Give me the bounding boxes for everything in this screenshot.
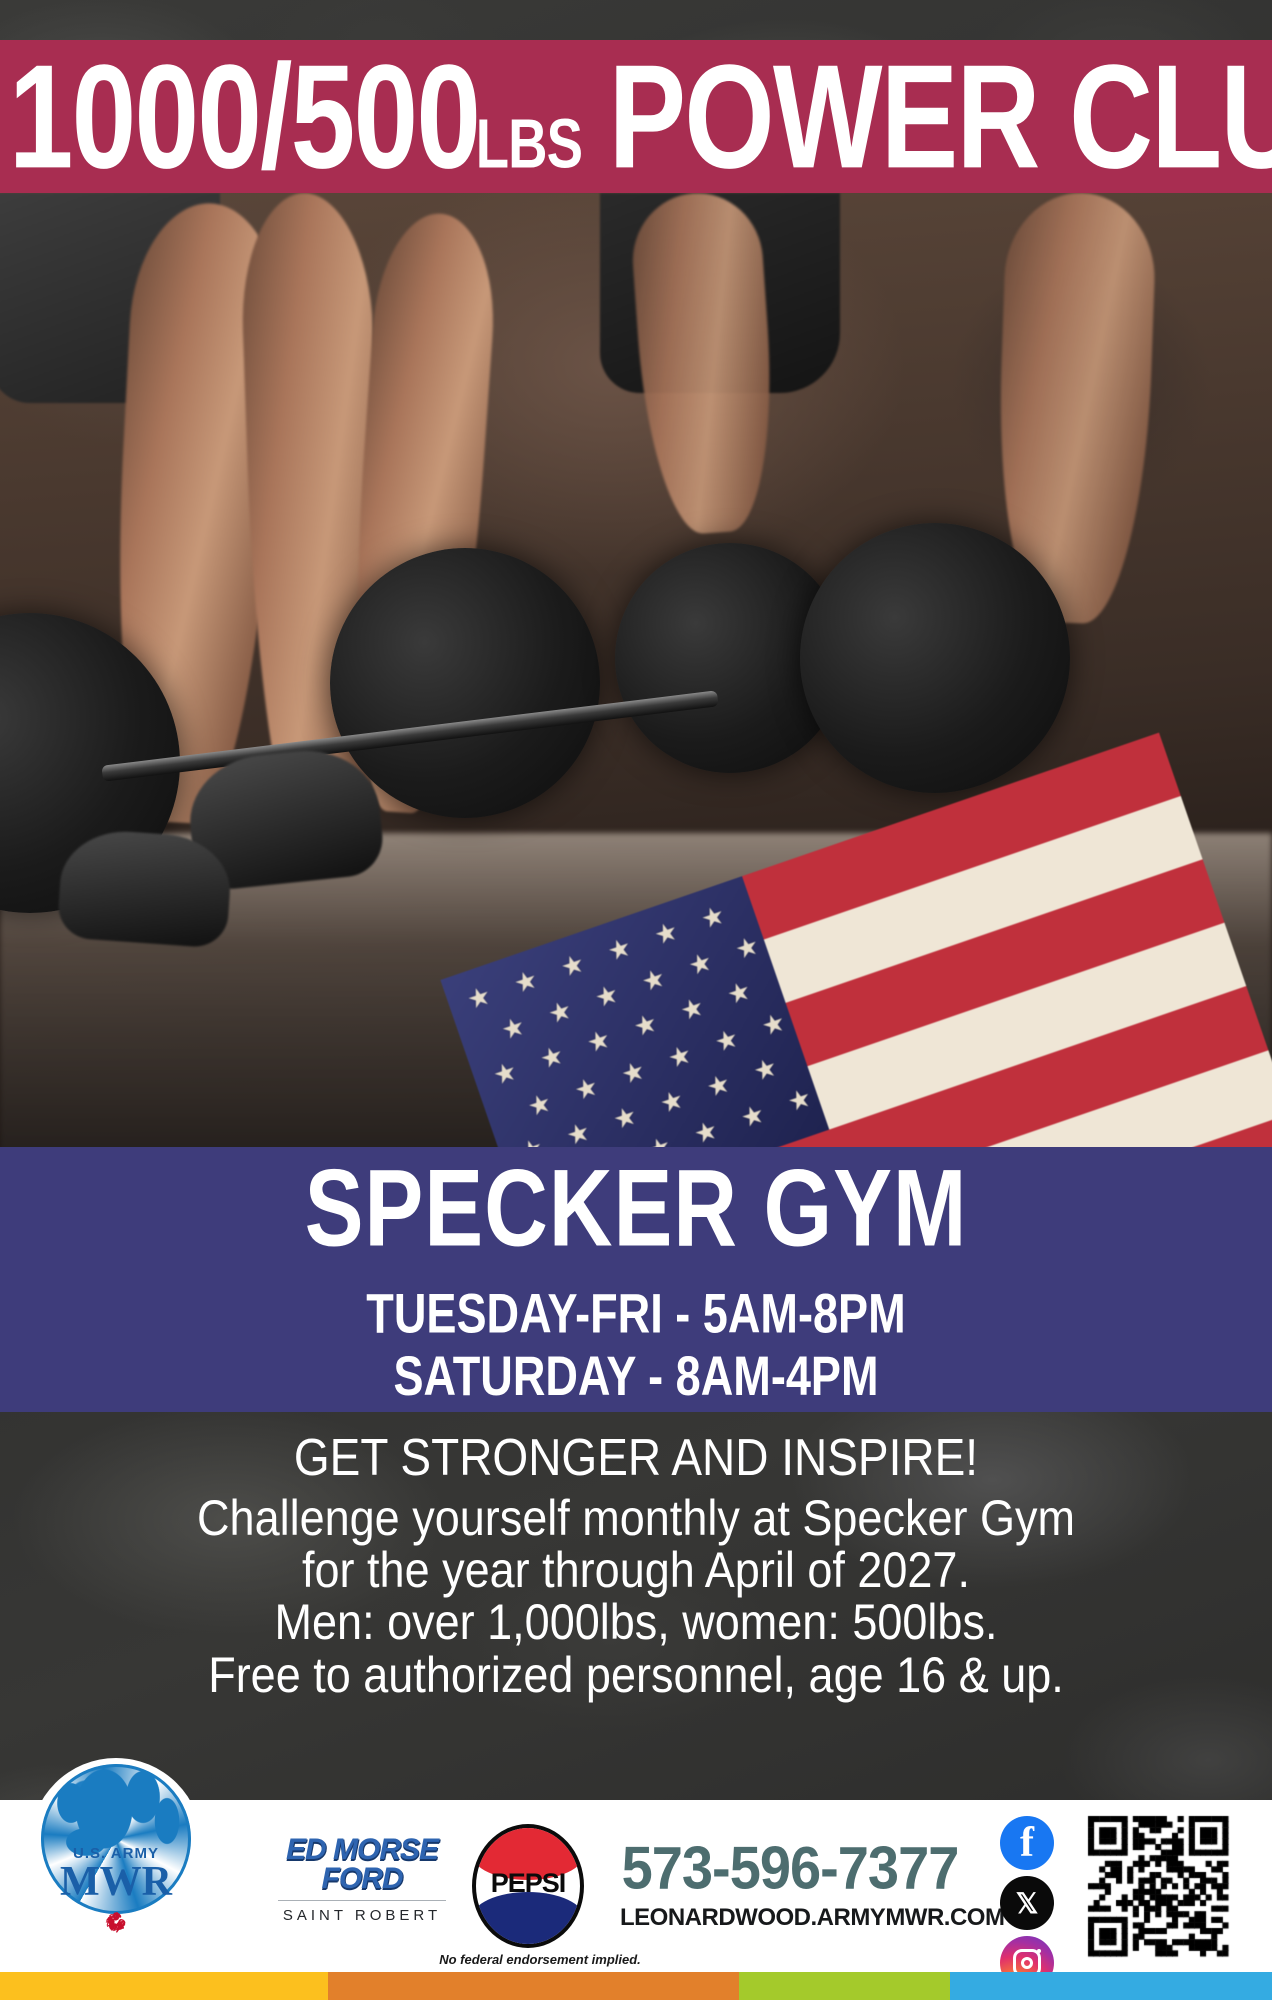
- gym-hours-saturday: SATURDAY - 8AM-4PM: [51, 1346, 1221, 1409]
- flag-star: ★: [557, 949, 588, 981]
- ed-morse-city: SAINT ROBERT: [272, 1907, 452, 1924]
- flag-star: ★: [490, 1057, 521, 1089]
- gym-info-band: SPECKER GYM TUESDAY-FRI - 5AM-8PM SATURD…: [0, 1147, 1272, 1412]
- flag-star: ★: [644, 1132, 675, 1147]
- phone-number[interactable]: 573-596-7377: [620, 1838, 960, 1898]
- colorbar-segment-lime: [739, 1972, 950, 2000]
- barbell-plate: [330, 548, 600, 818]
- flag-star: ★: [711, 1024, 742, 1056]
- flag-star: ★: [498, 1012, 529, 1044]
- flag-star: ★: [758, 1008, 789, 1040]
- federal-disclaimer: No federal endorsement implied.: [260, 1952, 820, 1967]
- instagram-lens: [1021, 1957, 1033, 1969]
- us-army-mwr-logo: U.S. ARMY MWR SOLDIERS · FAMILIES · RETI…: [30, 1758, 202, 1930]
- title-band: 1000/500LBSPOWER CLUB: [0, 40, 1272, 193]
- flag-star: ★: [618, 1056, 649, 1088]
- title-club-name: POWER CLUB: [609, 48, 1272, 184]
- mwr-tagline-ring: SOLDIERS · FAMILIES · RETIREES · CIVILIA…: [30, 1758, 202, 1930]
- gym-name: SPECKER GYM: [51, 1154, 1221, 1263]
- colorbar-segment-orange: [328, 1972, 739, 2000]
- flag-star: ★: [630, 1009, 661, 1041]
- flag-star: ★: [732, 932, 763, 964]
- social-icons: f 𝕏: [1000, 1816, 1062, 1996]
- flag-star: ★: [703, 1069, 734, 1101]
- ed-morse-line-2: FORD: [272, 1865, 452, 1894]
- facebook-glyph: f: [1020, 1819, 1034, 1867]
- body-copy: GET STRONGER AND INSPIRE! Challenge your…: [0, 1430, 1272, 1701]
- title-weight-spec: 1000/500: [9, 48, 479, 184]
- title-unit: LBS: [476, 112, 582, 176]
- footer: U.S. ARMY MWR SOLDIERS · FAMILIES · RETI…: [0, 1800, 1272, 1972]
- flag-star: ★: [516, 1133, 547, 1147]
- flag-star: ★: [591, 980, 622, 1012]
- flag-star: ★: [610, 1101, 641, 1133]
- flag-star: ★: [784, 1084, 815, 1116]
- divider: [278, 1900, 446, 1901]
- colorbar-segment-blue: [950, 1972, 1272, 2000]
- flag-star: ★: [651, 917, 682, 949]
- body-headline: GET STRONGER AND INSPIRE!: [0, 1427, 1272, 1487]
- body-line-3: Men: over 1,000lbs, women: 500lbs.: [0, 1593, 1272, 1651]
- gym-hours-weekday: TUESDAY-FRI - 5AM-8PM: [51, 1283, 1221, 1346]
- pepsi-wordmark: PEPSI: [472, 1868, 584, 1899]
- flag-star: ★: [737, 1100, 768, 1132]
- barbell-plate: [800, 523, 1070, 793]
- flag-star: ★: [750, 1053, 781, 1085]
- qr-code-canvas[interactable]: [1082, 1810, 1234, 1962]
- flag-star: ★: [571, 1072, 602, 1104]
- flag-star: ★: [583, 1025, 614, 1057]
- body-line-4: Free to authorized personnel, age 16 & u…: [0, 1645, 1272, 1703]
- pepsi-logo: PEPSI: [472, 1824, 584, 1948]
- pepsi-blue-arc: [472, 1892, 584, 1948]
- x-glyph: 𝕏: [1016, 1887, 1039, 1920]
- brand-colorbar: [0, 1972, 1272, 2000]
- flag-star: ★: [604, 933, 635, 965]
- flag-star: ★: [664, 1040, 695, 1072]
- flag-star: ★: [537, 1041, 568, 1073]
- flag-star: ★: [638, 964, 669, 996]
- gym-hours: TUESDAY-FRI - 5AM-8PM SATURDAY - 8AM-4PM: [51, 1283, 1221, 1408]
- qr-code[interactable]: [1082, 1810, 1234, 1962]
- website-url[interactable]: LEONARDWOOD.ARMYMWR.COM: [620, 1904, 960, 1932]
- poster: 1000/500LBSPOWER CLUB ★★★★★★★★★★★★★★★★★★…: [0, 0, 1272, 2000]
- poster-title: 1000/500LBSPOWER CLUB: [0, 48, 1272, 184]
- body-line-1: Challenge yourself monthly at Specker Gy…: [0, 1489, 1272, 1547]
- ed-morse-line-1: ED MORSE: [272, 1836, 452, 1865]
- x-twitter-icon[interactable]: 𝕏: [1000, 1876, 1054, 1930]
- contact-block: 573-596-7377 LEONARDWOOD.ARMYMWR.COM: [620, 1840, 960, 1932]
- flag-star: ★: [464, 981, 495, 1013]
- flag-star: ★: [691, 1116, 722, 1147]
- flag-star: ★: [563, 1117, 594, 1147]
- facebook-icon[interactable]: f: [1000, 1816, 1054, 1870]
- ed-morse-ford-logo: ED MORSE FORD SAINT ROBERT: [272, 1836, 452, 1924]
- flag-star: ★: [545, 996, 576, 1028]
- flag-star: ★: [685, 948, 716, 980]
- flag-star: ★: [511, 965, 542, 997]
- flag-star: ★: [656, 1085, 687, 1117]
- hero-photo: ★★★★★★★★★★★★★★★★★★★★★★★★★★★★★★★★★★★★: [0, 193, 1272, 1147]
- flag-star: ★: [677, 993, 708, 1025]
- flag-star: ★: [698, 901, 729, 933]
- flag-star: ★: [724, 977, 755, 1009]
- colorbar-segment-gold: [0, 1972, 328, 2000]
- body-line-2: for the year through April of 2027.: [0, 1541, 1272, 1599]
- flag-star: ★: [524, 1088, 555, 1120]
